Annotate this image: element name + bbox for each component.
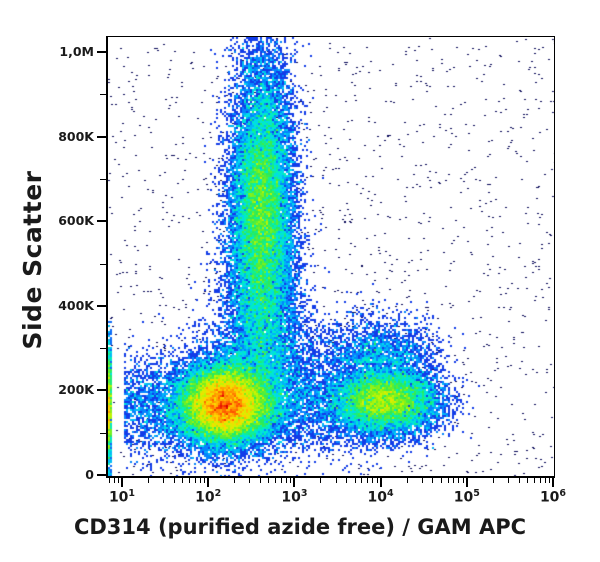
- x-tick-minor: [346, 478, 347, 483]
- x-tick-minor: [519, 478, 520, 483]
- y-tick-label-text: 600K: [32, 213, 94, 228]
- x-tick-major: [121, 478, 123, 487]
- x-tick-minor: [320, 478, 321, 483]
- y-tick-major: [97, 305, 106, 307]
- x-tick-minor: [182, 478, 183, 483]
- x-tick-minor: [204, 478, 205, 483]
- x-tick-label: 104: [368, 488, 394, 506]
- x-tick-minor: [114, 478, 115, 483]
- x-tick-minor: [234, 478, 235, 483]
- y-tick-major: [97, 51, 106, 53]
- y-tick-major: [97, 136, 106, 138]
- flow-cytometry-figure: Side Scatter CD314 (purified azide free)…: [0, 0, 600, 562]
- x-tick-minor: [367, 478, 368, 483]
- x-axis-title: CD314 (purified azide free) / GAM APC: [0, 515, 600, 539]
- x-tick-minor: [174, 478, 175, 483]
- y-tick-label-text: 0: [32, 467, 94, 482]
- x-tick-minor: [549, 478, 550, 483]
- x-tick-minor: [275, 478, 276, 483]
- x-tick-minor: [441, 478, 442, 483]
- y-axis-title: Side Scatter: [18, 145, 48, 375]
- x-tick-minor: [534, 478, 535, 483]
- x-tick-minor: [493, 478, 494, 483]
- y-tick-minor: [100, 94, 106, 95]
- density-scatter-plot: [108, 37, 555, 478]
- x-tick-minor: [163, 478, 164, 483]
- x-tick-minor: [260, 478, 261, 483]
- x-tick-minor: [540, 478, 541, 483]
- y-tick-label-text: 200K: [32, 382, 94, 397]
- x-tick-minor: [189, 478, 190, 483]
- x-tick-label: 105: [454, 488, 480, 506]
- x-tick-major: [207, 478, 209, 487]
- x-tick-minor: [200, 478, 201, 483]
- x-tick-minor: [422, 478, 423, 483]
- y-tick-minor: [100, 348, 106, 349]
- x-tick-minor: [281, 478, 282, 483]
- y-tick-major: [97, 389, 106, 391]
- x-tick-minor: [361, 478, 362, 483]
- x-tick-label: 102: [195, 488, 221, 506]
- x-tick-minor: [290, 478, 291, 483]
- y-tick-label: 200K: [28, 382, 94, 396]
- x-tick-minor: [336, 478, 337, 483]
- x-tick-minor: [355, 478, 356, 483]
- y-tick-minor: [100, 179, 106, 180]
- plot-area: [106, 36, 555, 478]
- x-tick-minor: [286, 478, 287, 483]
- y-tick-label: 400K: [28, 298, 94, 312]
- x-tick-minor: [377, 478, 378, 483]
- y-tick-label-text: 1,0M: [32, 44, 94, 59]
- y-tick-label: 800K: [28, 129, 94, 143]
- x-tick-major: [552, 478, 554, 487]
- x-tick-minor: [448, 478, 449, 483]
- x-tick-label: 101: [109, 488, 135, 506]
- x-tick-minor: [508, 478, 509, 483]
- x-tick-minor: [195, 478, 196, 483]
- x-tick-major: [380, 478, 382, 487]
- x-tick-minor: [118, 478, 119, 483]
- y-tick-label: 0: [28, 467, 94, 481]
- x-tick-minor: [148, 478, 149, 483]
- y-tick-label: 1,0M: [28, 44, 94, 58]
- x-tick-minor: [372, 478, 373, 483]
- x-tick-minor: [463, 478, 464, 483]
- y-tick-major: [97, 474, 106, 476]
- x-tick-minor: [249, 478, 250, 483]
- x-tick-label: 103: [281, 488, 307, 506]
- y-tick-label-text: 400K: [32, 298, 94, 313]
- y-tick-major: [97, 220, 106, 222]
- x-tick-minor: [545, 478, 546, 483]
- x-tick-major: [293, 478, 295, 487]
- x-tick-minor: [432, 478, 433, 483]
- x-tick-minor: [458, 478, 459, 483]
- x-tick-minor: [109, 478, 110, 483]
- x-tick-minor: [453, 478, 454, 483]
- x-tick-minor: [268, 478, 269, 483]
- x-tick-major: [466, 478, 468, 487]
- y-tick-label: 600K: [28, 213, 94, 227]
- x-tick-minor: [527, 478, 528, 483]
- y-tick-label-text: 800K: [32, 129, 94, 144]
- y-tick-minor: [100, 433, 106, 434]
- y-tick-minor: [100, 264, 106, 265]
- x-tick-label: 106: [540, 488, 566, 506]
- x-tick-minor: [407, 478, 408, 483]
